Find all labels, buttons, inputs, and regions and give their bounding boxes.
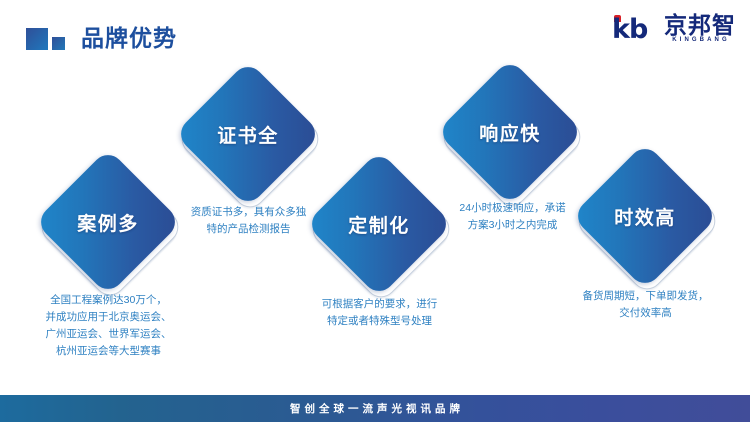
feature-diamond-4[interactable]: 响应快 (458, 80, 562, 184)
feature-diamond-1[interactable]: 案例多 (56, 170, 160, 274)
caption-line: 杭州亚运会等大型赛事 (6, 343, 211, 360)
feature-label-2: 证书全 (196, 82, 300, 186)
brand-logo: kb 京邦智 KINGBANG (612, 14, 736, 44)
logo-mark-icon: kb (612, 14, 658, 44)
caption-line: 交付效率高 (548, 305, 743, 322)
caption-line: 备货周期短，下单即发货， (548, 288, 743, 305)
feature-caption-3: 可根据客户的要求，进行 特定或者特殊型号处理 (282, 296, 477, 330)
caption-line: 可根据客户的要求，进行 (282, 296, 477, 313)
feature-caption-1: 全国工程案例达30万个， 并成功应用于北京奥运会、 广州亚运会、世界军运会、 杭… (6, 292, 211, 360)
feature-caption-5: 备货周期短，下单即发货， 交付效率高 (548, 288, 743, 322)
feature-diamond-2[interactable]: 证书全 (196, 82, 300, 186)
page-header: 品牌优势 (26, 16, 177, 50)
page-title: 品牌优势 (81, 27, 177, 50)
feature-label-4: 响应快 (458, 80, 562, 184)
caption-line: 特定或者特殊型号处理 (282, 313, 477, 330)
header-square-large-icon (26, 28, 48, 50)
caption-line: 全国工程案例达30万个， (6, 292, 211, 309)
header-square-small-icon (52, 37, 65, 50)
feature-label-1: 案例多 (56, 170, 160, 274)
logo-brand-en: KINGBANG (664, 36, 736, 44)
caption-line: 并成功应用于北京奥运会、 (6, 309, 211, 326)
logo-monogram: kb (612, 16, 647, 43)
feature-label-5: 时效高 (593, 164, 697, 268)
footer-bar: 智创全球一流声光视讯品牌 (0, 395, 750, 422)
caption-line: 广州亚运会、世界军运会、 (6, 326, 211, 343)
feature-diamond-5[interactable]: 时效高 (593, 164, 697, 268)
logo-wordmark: 京邦智 KINGBANG (664, 14, 736, 44)
slide-root: 品牌优势 kb 京邦智 KINGBANG 案例多 全国工程案例达30万个， 并成… (0, 0, 750, 422)
footer-slogan: 智创全球一流声光视讯品牌 (286, 401, 464, 416)
logo-brand-cn: 京邦智 (664, 14, 736, 36)
